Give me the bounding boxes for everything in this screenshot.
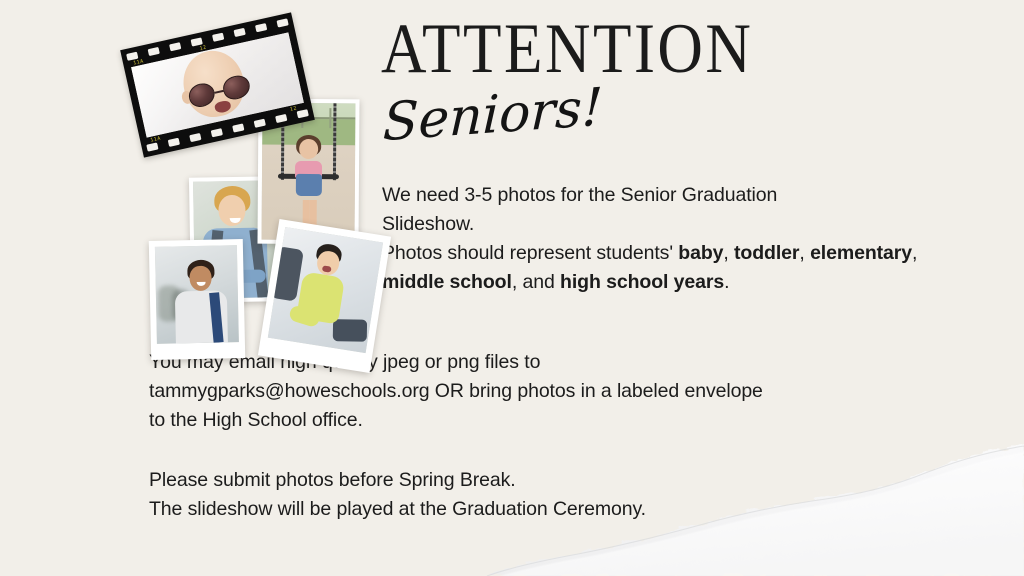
submission-line: to the High School office.	[149, 406, 959, 435]
baby-yellow-outfit	[296, 272, 345, 325]
swing-chain-right	[333, 103, 337, 180]
film-perforation	[234, 28, 246, 37]
dark-object-right	[333, 319, 367, 342]
polaroid-baby-yellow-image	[268, 227, 383, 353]
conjunction: and	[522, 271, 560, 293]
sep: ,	[912, 242, 917, 264]
request-line: Slideshow.	[382, 210, 942, 239]
polaroid-student	[149, 239, 245, 360]
dark-object-left	[270, 246, 304, 301]
polaroid-baby-yellow	[258, 219, 391, 373]
sep: ,	[723, 242, 734, 264]
fence-post	[329, 109, 331, 128]
school-hallway-scene	[155, 245, 239, 344]
film-perforation	[146, 142, 158, 151]
category-baby: baby	[678, 242, 723, 264]
category-high-school-years: high school years	[560, 271, 724, 293]
period: .	[724, 271, 729, 293]
film-perforation	[254, 119, 266, 128]
film-perforation	[148, 47, 160, 56]
category-elementary: elementary	[810, 242, 912, 264]
film-perforation	[232, 123, 244, 132]
poster-canvas: 11A 12 11A 12	[0, 0, 1024, 576]
script-subtitle: Seniors!	[382, 82, 604, 150]
categories-prefix: Photos should represent students'	[382, 242, 678, 264]
closing-line: Please submit photos before Spring Break…	[149, 466, 959, 495]
page-title: ATTENTION	[381, 14, 753, 85]
submission-paragraph: You may email high quality jpeg or png f…	[149, 348, 959, 435]
category-toddler: toddler	[734, 242, 799, 264]
indoor-scene	[268, 227, 383, 353]
sep: ,	[799, 242, 810, 264]
toddler-head	[299, 139, 318, 159]
request-line: We need 3-5 photos for the Senior Gradua…	[382, 181, 942, 210]
toddler-overalls	[295, 174, 321, 196]
student-face	[189, 266, 212, 291]
sunglasses-bridge	[215, 90, 224, 94]
film-perforation	[212, 33, 224, 42]
submission-line-email: tammygparks@howeschools.org OR bring pho…	[149, 377, 959, 406]
categories-sentence: Photos should represent students' baby, …	[382, 242, 917, 293]
category-middle-school: middle school	[382, 271, 512, 293]
film-perforation	[169, 42, 181, 51]
closing-paragraph: Please submit photos before Spring Break…	[149, 466, 959, 524]
closing-line: The slideshow will be played at the Grad…	[149, 495, 959, 524]
film-perforation	[211, 128, 223, 137]
film-perforation	[168, 138, 180, 147]
film-perforation	[276, 18, 288, 27]
film-perforation	[255, 23, 267, 32]
polaroid-student-image	[155, 245, 239, 344]
film-perforation	[275, 114, 287, 123]
request-paragraph: We need 3-5 photos for the Senior Gradua…	[382, 181, 942, 297]
film-perforation	[189, 133, 201, 142]
photo-collage: 11A 12 11A 12	[128, 22, 378, 347]
sep: ,	[512, 271, 523, 293]
film-perforation	[297, 109, 309, 118]
